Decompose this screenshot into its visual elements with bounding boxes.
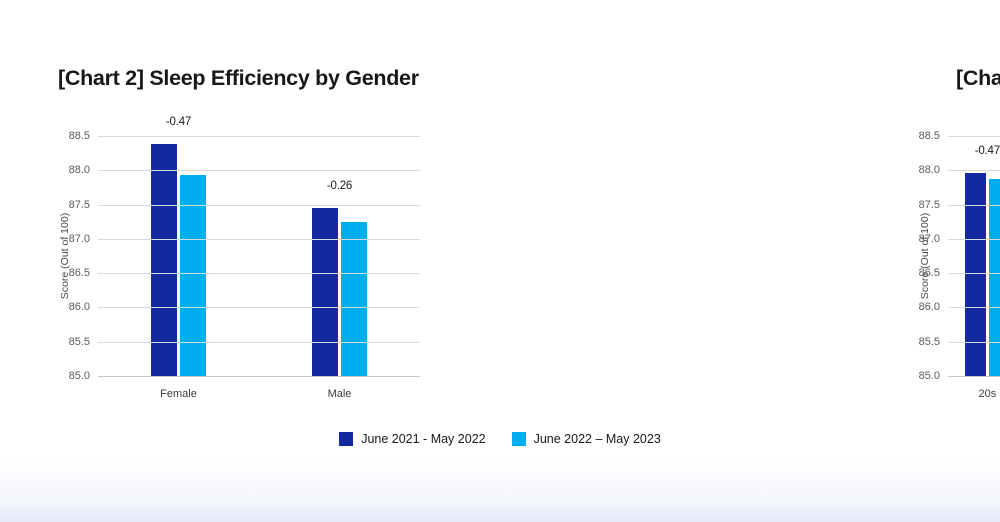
legend-swatch-series-2 bbox=[512, 432, 526, 446]
gridline bbox=[98, 205, 420, 206]
delta-annotation: -0.47 bbox=[975, 145, 1000, 157]
gridline bbox=[98, 136, 420, 137]
legend-label: June 2021 - May 2022 bbox=[361, 432, 485, 446]
delta-annotation: -0.26 bbox=[327, 180, 352, 192]
gridline bbox=[98, 307, 420, 308]
chart-page: [Chart 2] Sleep Efficiency by Gender Sco… bbox=[0, 0, 1000, 522]
bar-male-series-2[interactable] bbox=[341, 222, 367, 376]
gridline bbox=[98, 376, 420, 377]
y-axis-tick-label: 88.5 bbox=[919, 130, 940, 142]
gridline bbox=[948, 205, 1000, 206]
x-axis-category-label: 20s bbox=[948, 388, 1000, 400]
gridline bbox=[98, 342, 420, 343]
y-axis-tick-label: 86.5 bbox=[69, 267, 90, 279]
gridline bbox=[948, 273, 1000, 274]
bar-pair bbox=[151, 136, 206, 376]
y-axis-tick-label: 88.5 bbox=[69, 130, 90, 142]
bar-group: -0.47 bbox=[98, 136, 259, 376]
y-axis-tick-label: 87.5 bbox=[919, 199, 940, 211]
y-axis-tick-label: 86.0 bbox=[919, 301, 940, 313]
chart-2-x-axis-labels: FemaleMale bbox=[98, 376, 420, 400]
y-axis-tick-label: 86.0 bbox=[69, 301, 90, 313]
legend-label: June 2022 – May 2023 bbox=[534, 432, 661, 446]
legend-swatch-series-1 bbox=[339, 432, 353, 446]
bar-male-series-1[interactable] bbox=[312, 208, 338, 376]
y-axis-tick-label: 87.5 bbox=[69, 199, 90, 211]
chart-2-title: [Chart 2] Sleep Efficiency by Gender bbox=[58, 66, 419, 91]
y-axis-tick-label: 88.0 bbox=[919, 164, 940, 176]
chart-2-block: [Chart 2] Sleep Efficiency by Gender Sco… bbox=[0, 0, 440, 420]
chart-3-plot: -0.47-0.25-0.37-0.57-0.82-1.12 20s30s40s… bbox=[948, 136, 1000, 376]
chart-3-bar-groups: -0.47-0.25-0.37-0.57-0.82-1.12 bbox=[948, 136, 1000, 376]
chart-3-x-axis-labels: 20s30s40s50s60s70+ bbox=[948, 376, 1000, 400]
chart-2-bar-groups: -0.47-0.26 bbox=[98, 136, 420, 376]
legend-item-series-1[interactable]: June 2021 - May 2022 bbox=[339, 432, 485, 446]
gridline bbox=[98, 273, 420, 274]
legend-item-series-2[interactable]: June 2022 – May 2023 bbox=[512, 432, 661, 446]
chart-2-y-axis-ticks: 85.085.586.086.587.087.588.088.5 bbox=[50, 136, 96, 376]
chart-3-y-axis-ticks: 85.085.586.086.587.087.588.088.5 bbox=[900, 136, 946, 376]
x-axis-category-label: Female bbox=[98, 388, 259, 400]
chart-3-title: [Chart 3] Sleep Efficiency by Age Group bbox=[956, 66, 1000, 91]
y-axis-tick-label: 88.0 bbox=[69, 164, 90, 176]
y-axis-tick-label: 85.0 bbox=[919, 370, 940, 382]
chart-3-plot-area: Score (Out of 100) 85.085.586.086.587.08… bbox=[884, 136, 1000, 376]
gridline bbox=[948, 239, 1000, 240]
bar-group: -0.47 bbox=[948, 136, 1000, 376]
chart-2-plot-area: Score (Out of 100) 85.085.586.086.587.08… bbox=[24, 136, 424, 376]
gridline bbox=[948, 136, 1000, 137]
bottom-gradient-band bbox=[0, 460, 1000, 522]
x-axis-category-label: Male bbox=[259, 388, 420, 400]
delta-annotation: -0.47 bbox=[166, 116, 191, 128]
gridline bbox=[948, 376, 1000, 377]
gridline bbox=[98, 170, 420, 171]
bar-pair bbox=[312, 136, 367, 376]
bar-20s-series-2[interactable] bbox=[989, 179, 1000, 376]
bar-group: -0.26 bbox=[259, 136, 420, 376]
charts-row: [Chart 2] Sleep Efficiency by Gender Sco… bbox=[0, 0, 1000, 420]
gridline bbox=[948, 307, 1000, 308]
y-axis-tick-label: 85.5 bbox=[69, 336, 90, 348]
y-axis-tick-label: 85.5 bbox=[919, 336, 940, 348]
y-axis-tick-label: 85.0 bbox=[69, 370, 90, 382]
chart-2-plot: -0.47-0.26 FemaleMale bbox=[98, 136, 420, 376]
y-axis-tick-label: 87.0 bbox=[69, 233, 90, 245]
chart-3-block: [Chart 3] Sleep Efficiency by Age Group … bbox=[440, 0, 1000, 420]
y-axis-tick-label: 87.0 bbox=[919, 233, 940, 245]
bar-20s-series-1[interactable] bbox=[965, 173, 986, 376]
gridline bbox=[98, 239, 420, 240]
bar-pair bbox=[965, 136, 1000, 376]
y-axis-tick-label: 86.5 bbox=[919, 267, 940, 279]
gridline bbox=[948, 342, 1000, 343]
gridline bbox=[948, 170, 1000, 171]
chart-legend: June 2021 - May 2022June 2022 – May 2023 bbox=[0, 432, 1000, 446]
